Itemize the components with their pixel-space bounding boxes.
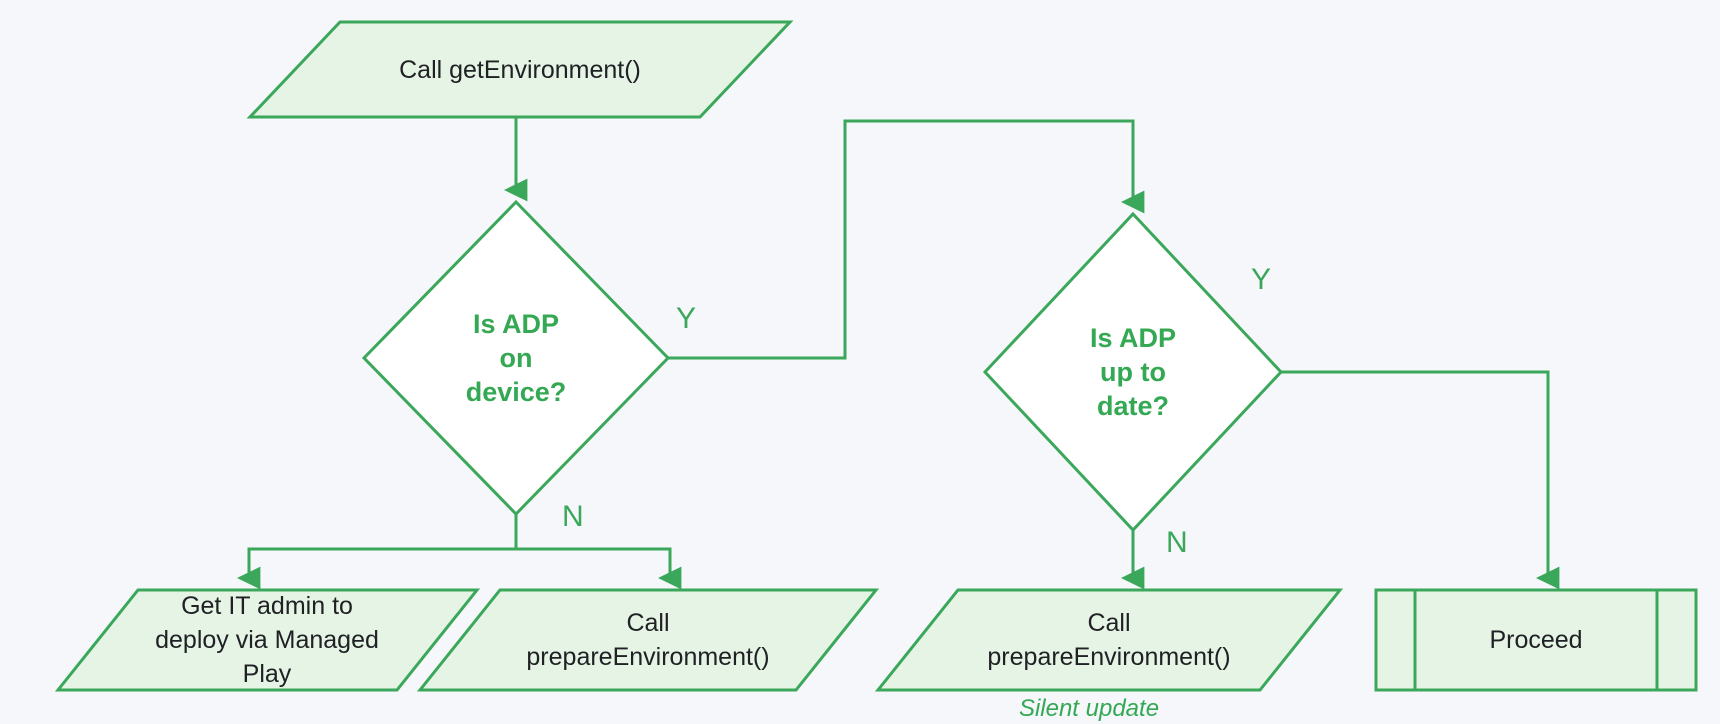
shape-proceed-box: [1376, 590, 1696, 690]
shape-decision-adp-up-to-date: [985, 214, 1281, 530]
shape-start-parallelogram: [250, 22, 790, 117]
edge-decision1-no-to-get-it-admin: [249, 549, 516, 578]
edge-decision1-no-to-prepare-env-left: [516, 549, 670, 578]
shape-prepare-env-right-parallelogram: [878, 590, 1340, 690]
shape-decision-adp-on-device: [364, 202, 668, 514]
edge-decision2-yes-to-proceed: [1281, 372, 1548, 578]
shape-prepare-env-left-parallelogram: [420, 590, 876, 690]
flowchart-canvas: Call getEnvironment() Is ADP on device? …: [0, 0, 1720, 724]
flowchart-svg: [0, 0, 1720, 724]
shape-get-it-admin-parallelogram: [58, 590, 477, 690]
